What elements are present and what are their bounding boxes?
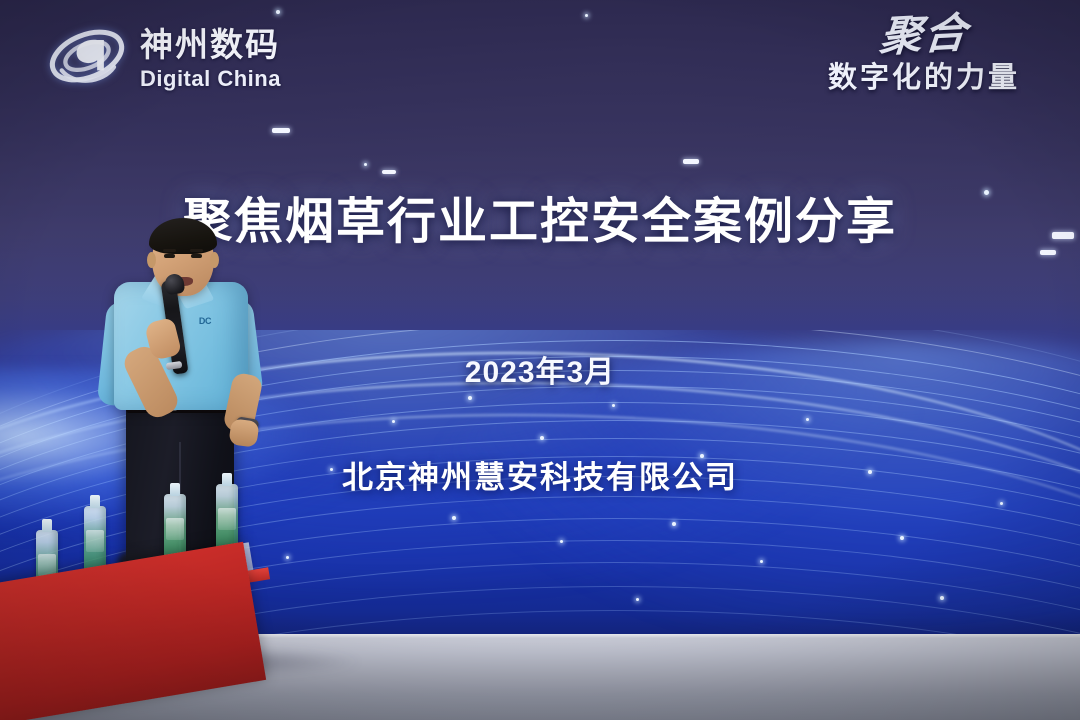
- speaker-eye-left: [164, 254, 175, 258]
- speaker-chest-logo: DC: [192, 316, 218, 338]
- digital-china-logo: 神州数码 Digital China: [44, 18, 281, 94]
- campaign-lockup: 聚合 数字化的力量: [794, 14, 1054, 96]
- brand-name-en: Digital China: [140, 68, 281, 90]
- brand-wordmark: 神州数码 Digital China: [140, 22, 281, 90]
- speaker-eyebrow-left: [163, 249, 176, 252]
- water-bottle: [84, 506, 106, 574]
- speaker-ear-left: [147, 252, 156, 268]
- brand-name-cn: 神州数码: [140, 28, 281, 61]
- conference-stage-photo: 神州数码 Digital China 聚合 数字化的力量 聚焦烟草行业工控安全案…: [0, 0, 1080, 720]
- speaker-right-hand: [228, 418, 259, 448]
- speaker-ear-right: [210, 252, 219, 268]
- water-bottle: [216, 484, 238, 552]
- speaker-hair: [149, 218, 217, 254]
- speaker-eye-right: [191, 254, 202, 258]
- digital-china-swoosh-icon: [44, 18, 130, 94]
- speaker-eyebrow-right: [190, 249, 203, 252]
